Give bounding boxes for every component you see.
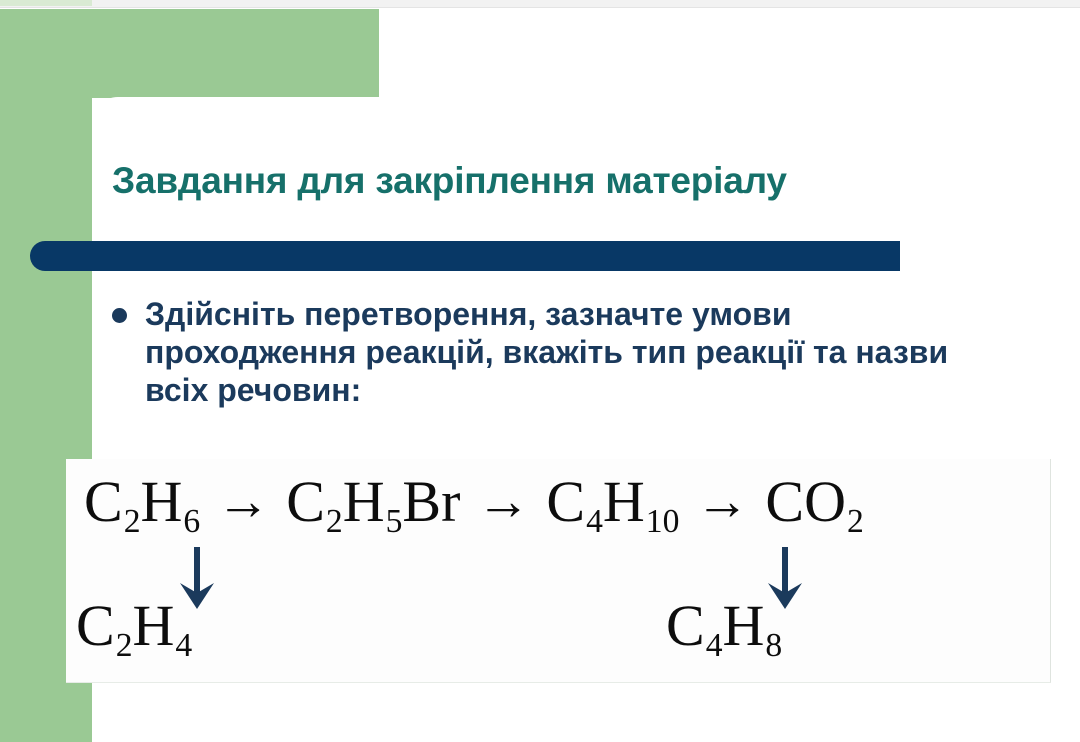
- bullet-item-label: Здійсніть перетворення, зазначте умови п…: [145, 296, 970, 409]
- reaction-scheme-image: C2H6→C2H5Br→C4H10→CO2 C2H4 C4H8: [66, 459, 1051, 683]
- element-h: H: [343, 469, 385, 534]
- species-co2: CO2: [765, 469, 863, 534]
- subscript-8: 8: [764, 627, 782, 664]
- element-c: C: [666, 593, 705, 658]
- slide-canvas: Завдання для закріплення матеріалу Здійс…: [0, 0, 1080, 742]
- slide-title: Завдання для закріплення матеріалу: [112, 160, 1012, 202]
- element-c: C: [286, 469, 325, 534]
- element-c: C: [84, 469, 123, 534]
- subscript-4: 4: [705, 627, 723, 664]
- subscript-10: 10: [645, 503, 680, 540]
- subscript-4: 4: [585, 503, 603, 540]
- species-c4h8: C4H8: [666, 597, 782, 655]
- element-c: C: [76, 593, 115, 658]
- reaction-chain-row: C2H6→C2H5Br→C4H10→CO2: [84, 473, 864, 531]
- subscript-2: 2: [846, 503, 864, 540]
- subscript-4: 4: [174, 627, 192, 664]
- element-o: O: [804, 469, 846, 534]
- top-strip-divider: [0, 7, 1080, 8]
- element-c: C: [546, 469, 585, 534]
- subscript-2: 2: [123, 503, 141, 540]
- arrow-right-icon-1: →: [200, 474, 286, 528]
- element-h: H: [141, 469, 183, 534]
- subscript-5: 5: [385, 503, 403, 540]
- species-c2h4: C2H4: [76, 597, 192, 655]
- element-h: H: [133, 593, 175, 658]
- element-h: H: [723, 593, 765, 658]
- element-br: Br: [402, 469, 460, 534]
- species-c2h5br: C2H5Br: [286, 469, 460, 534]
- subscript-2: 2: [115, 627, 133, 664]
- title-underline-bar: [30, 241, 900, 271]
- arrow-right-icon-3: →: [679, 474, 765, 528]
- subscript-6: 6: [182, 503, 200, 540]
- top-strip-green-segment: [0, 0, 92, 6]
- bullet-dot-icon: [112, 308, 127, 323]
- subscript-2: 2: [325, 503, 343, 540]
- arrow-right-icon-2: →: [460, 474, 546, 528]
- species-c4h10: C4H10: [546, 469, 679, 534]
- bullet-list-item: Здійсніть перетворення, зазначте умови п…: [112, 296, 1012, 409]
- species-c2h6: C2H6: [84, 469, 200, 534]
- element-h: H: [603, 469, 645, 534]
- element-c: C: [765, 469, 804, 534]
